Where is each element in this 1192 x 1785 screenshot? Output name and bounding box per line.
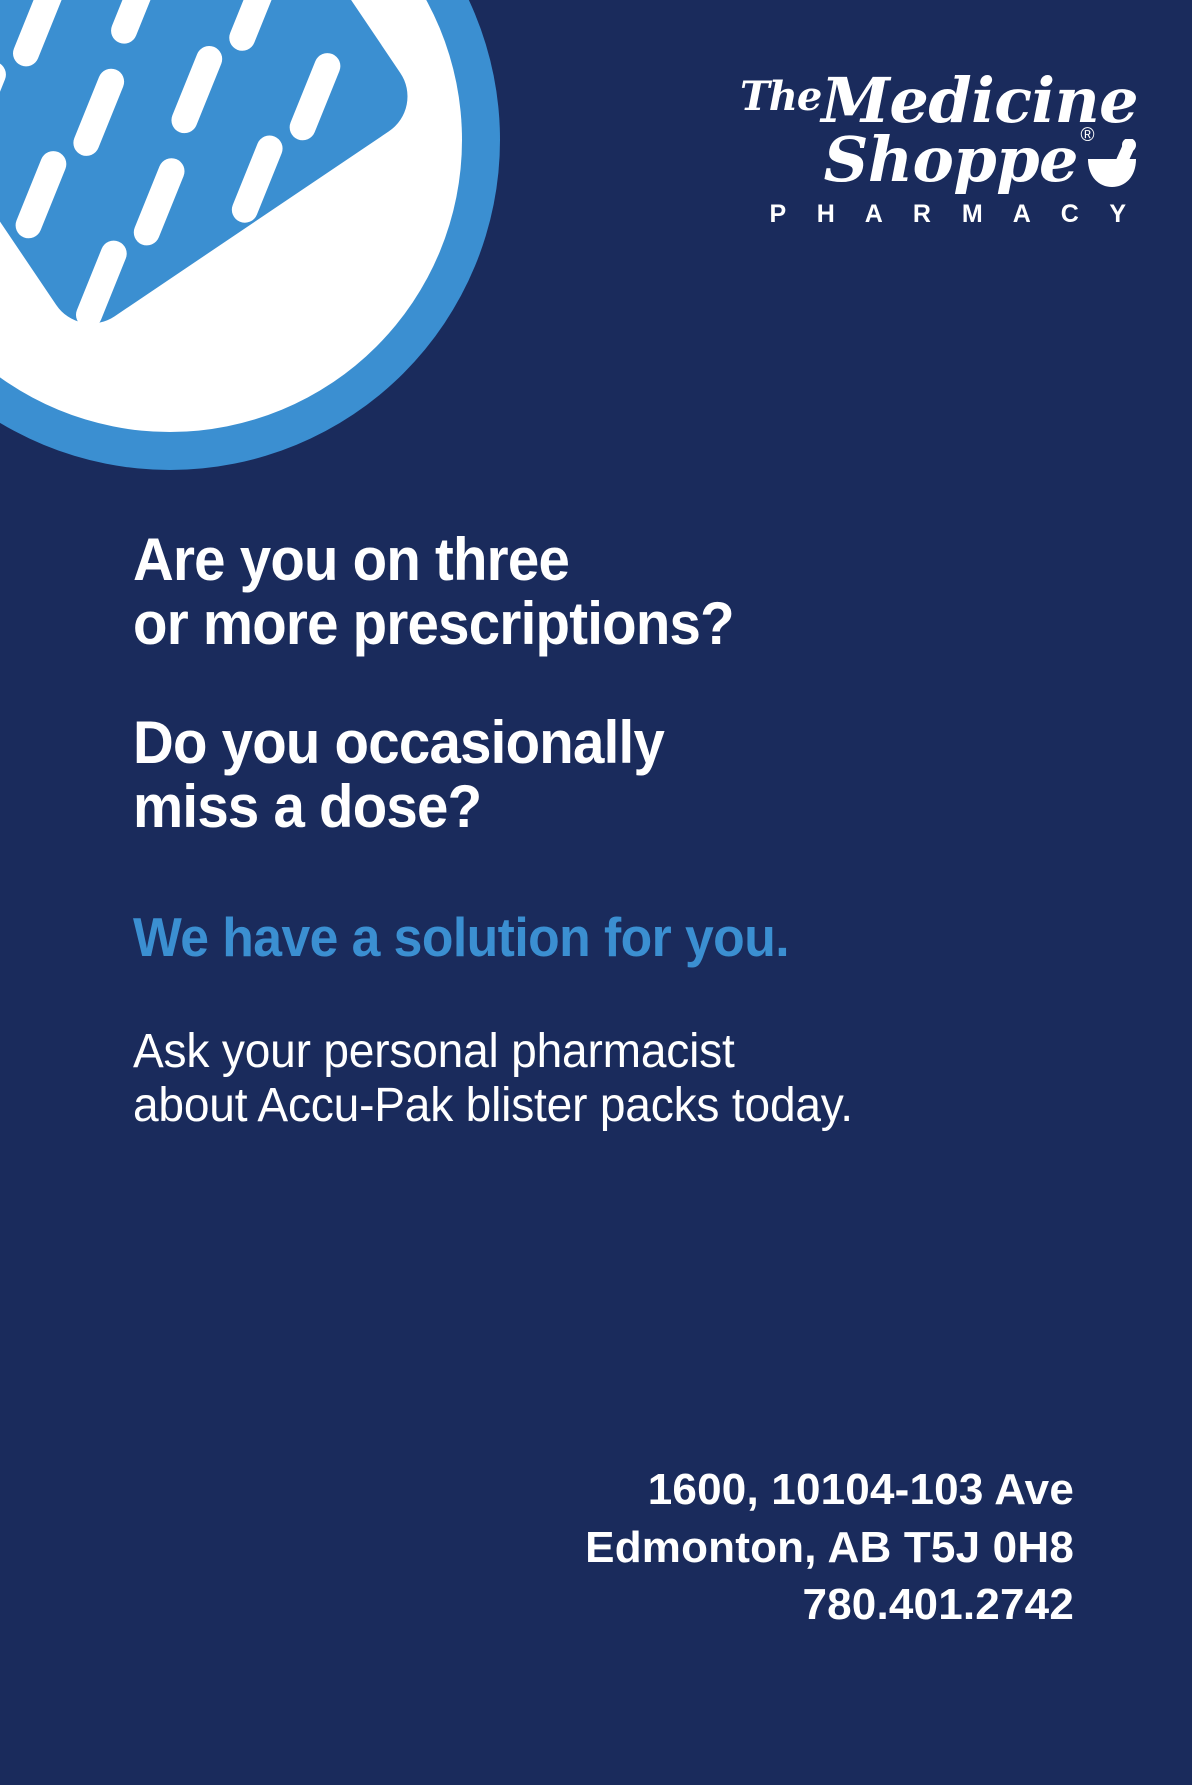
logo-line-medicine: TheMedicine — [740, 72, 1140, 129]
pill — [168, 42, 227, 137]
blister-tray — [0, 0, 424, 340]
pill — [12, 147, 71, 242]
pill — [72, 237, 131, 332]
address-phone[interactable]: 780.401.2742 — [585, 1576, 1074, 1633]
address-city: Edmonton, AB T5J 0H8 — [585, 1519, 1074, 1576]
address-block: 1600, 10104-103 Ave Edmonton, AB T5J 0H8… — [585, 1461, 1074, 1633]
logo-wordmark: TheMedicine Shoppe ® — [740, 72, 1140, 188]
blister-pack-badge — [0, 0, 500, 470]
blister-pack-icon — [0, 0, 500, 470]
body-paragraph: Ask your personal pharmacist about Accu-… — [133, 1025, 1034, 1134]
address-street: 1600, 10104-103 Ave — [585, 1461, 1074, 1518]
pill — [228, 132, 287, 227]
medicine-shoppe-logo: TheMedicine Shoppe ® P H A R M A C Y — [740, 72, 1140, 229]
logo-pharmacy-text: P H A R M A C Y — [740, 200, 1140, 229]
logo-line-shoppe: Shoppe ® — [740, 131, 1140, 188]
pill — [286, 49, 345, 144]
pill — [130, 154, 189, 249]
pill — [9, 0, 68, 70]
solution-tagline: We have a solution for you. — [133, 908, 1016, 966]
mortar-and-pestle-icon — [1084, 139, 1140, 189]
headline-miss-dose: Do you occasionally miss a dose? — [133, 711, 1016, 838]
poster-canvas: TheMedicine Shoppe ® P H A R M A C Y Are… — [0, 0, 1192, 1785]
copy-block: Are you on three or more prescriptions? … — [133, 528, 1072, 1134]
pill — [69, 65, 128, 160]
pill — [225, 0, 284, 55]
logo-shoppe: Shoppe — [824, 123, 1078, 196]
headline-prescriptions: Are you on three or more prescriptions? — [133, 528, 1016, 655]
logo-the: The — [740, 73, 821, 120]
pill — [107, 0, 166, 48]
pill — [0, 58, 10, 153]
